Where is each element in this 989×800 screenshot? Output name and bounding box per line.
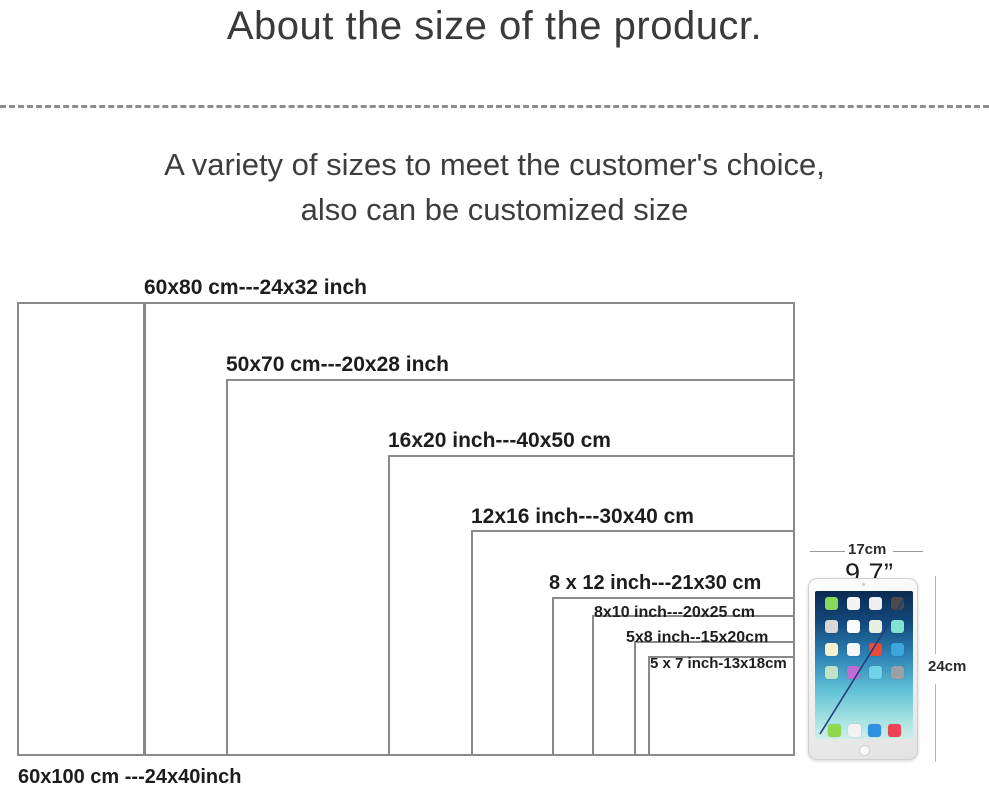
- home-screen-icon-grid: [815, 597, 913, 687]
- page-subtitle: A variety of sizes to meet the customer'…: [0, 142, 989, 232]
- header-divider: [0, 105, 989, 108]
- size-label-60x100: 60x100 cm ---24x40inch: [18, 766, 241, 789]
- home-screen-dock: [815, 724, 913, 737]
- subtitle-line-1: A variety of sizes to meet the customer'…: [0, 142, 989, 187]
- app-icon-camera: [825, 666, 838, 679]
- front-camera-icon: [862, 583, 865, 586]
- page-title: About the size of the producr.: [0, 4, 989, 49]
- size-label-5x8: 5x8 inch--15x20cm: [626, 629, 768, 647]
- tablet-width-rule-left: [810, 551, 845, 552]
- size-rect-60x100: [17, 302, 145, 756]
- app-icon-appstore: [869, 643, 882, 656]
- size-label-8x10: 8x10 inch---20x25 cm: [594, 604, 755, 622]
- dock-icon-safari: [868, 724, 881, 737]
- tablet-screen: [815, 591, 913, 739]
- app-icon-maps: [869, 620, 882, 633]
- size-label-8x12: 8 x 12 inch---21x30 cm: [549, 572, 761, 595]
- app-icon-clock: [847, 620, 860, 633]
- app-icon-green: [825, 597, 838, 610]
- tablet-height-label: 24cm: [928, 658, 966, 675]
- subtitle-line-2: also can be customized size: [0, 187, 989, 232]
- home-button-icon: [859, 745, 870, 756]
- size-label-60x80: 60x80 cm---24x32 inch: [144, 276, 367, 300]
- size-chart-page: About the size of the producr. A variety…: [0, 0, 989, 800]
- dock-icon-messages: [828, 724, 841, 737]
- app-icon-settings: [891, 666, 904, 679]
- app-icon-photos: [869, 597, 882, 610]
- tablet-width-label: 17cm: [848, 541, 886, 558]
- app-icon-contacts: [825, 620, 838, 633]
- app-icon-reminders: [847, 643, 860, 656]
- size-label-16x20: 16x20 inch---40x50 cm: [388, 429, 611, 453]
- dock-icon-music: [888, 724, 901, 737]
- app-icon-calendar: [891, 620, 904, 633]
- app-icon-safari: [891, 643, 904, 656]
- app-icon-photobooth: [847, 666, 860, 679]
- app-icon-notes: [825, 643, 838, 656]
- size-label-5x7: 5 x 7 inch-13x18cm: [650, 655, 787, 672]
- app-icon-dark: [891, 597, 904, 610]
- tablet-height-rule-top: [935, 576, 936, 654]
- app-icon-white: [847, 597, 860, 610]
- dock-icon-mail: [848, 724, 861, 737]
- app-icon-facetime: [869, 666, 882, 679]
- size-label-12x16: 12x16 inch---30x40 cm: [471, 505, 694, 529]
- size-label-50x70: 50x70 cm---20x28 inch: [226, 353, 449, 377]
- tablet-body: [808, 578, 918, 760]
- tablet-width-rule-right: [893, 551, 923, 552]
- tablet-height-rule-bottom: [935, 684, 936, 762]
- tablet-illustration: [808, 578, 918, 760]
